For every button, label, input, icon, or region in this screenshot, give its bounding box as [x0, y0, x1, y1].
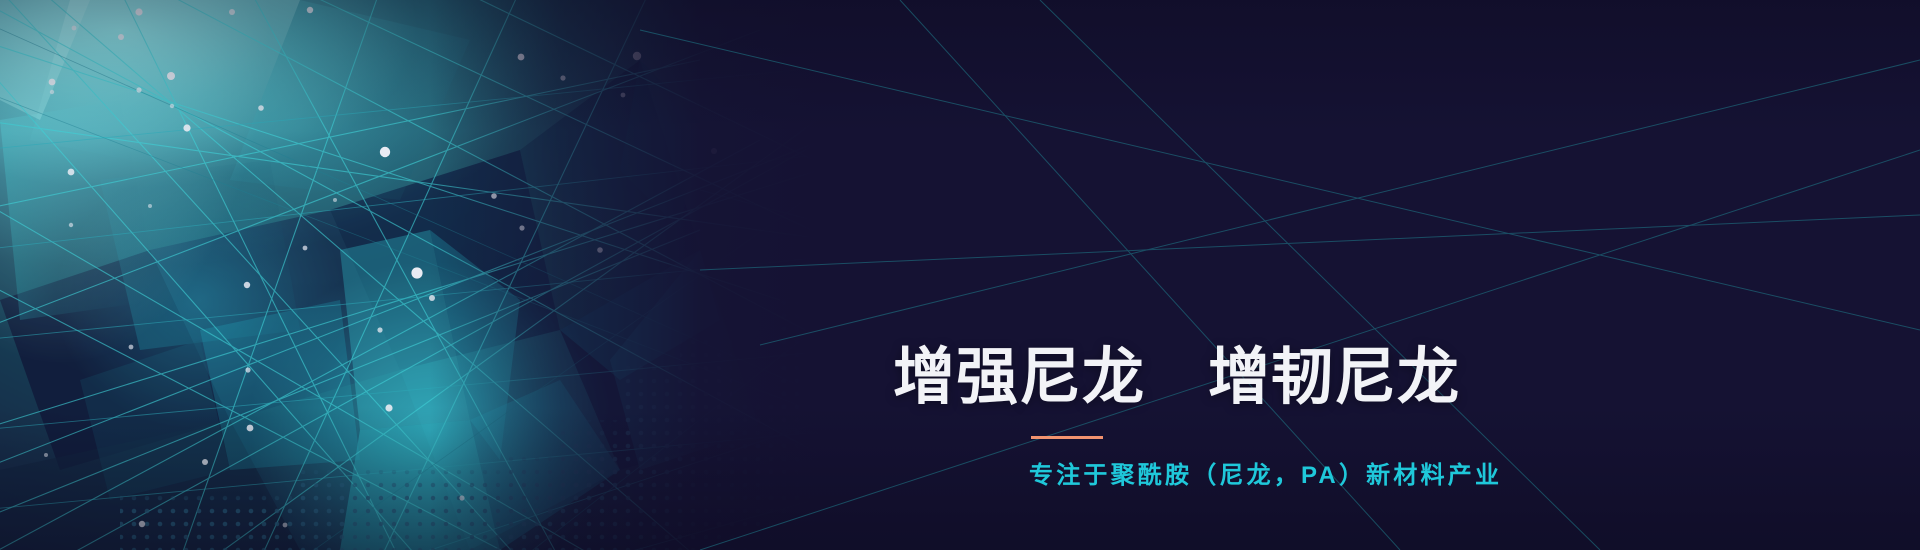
headline-line-1: 增强尼龙 增韧尼龙 [893, 325, 1460, 431]
hero-banner: 增强尼龙 增韧尼龙 阻燃尼龙 耐磨尼龙 专注于聚酰胺（尼龙，PA）新材料产业 [0, 0, 1920, 550]
hero-subtitle: 专注于聚酰胺（尼龙，PA）新材料产业 [1029, 455, 1502, 490]
accent-divider-rule [1031, 436, 1103, 439]
